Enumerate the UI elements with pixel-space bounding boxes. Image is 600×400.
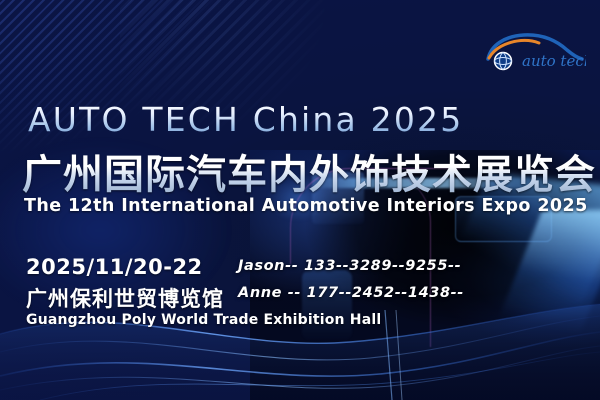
auto-tech-logo[interactable]: auto tech xyxy=(482,28,586,74)
event-poster: auto tech AUTO TECH China 2025 广州国际汽车内外饰… xyxy=(0,0,600,400)
venue-chinese: 广州保利世贸博览馆 xyxy=(26,283,224,313)
globe-icon xyxy=(495,53,512,70)
title-english: AUTO TECH China 2025 xyxy=(28,100,463,139)
contact-line-jason: Jason-- 133--3289--9255-- xyxy=(238,258,461,274)
subtitle-english: The 12th International Automotive Interi… xyxy=(24,196,588,216)
logo-text: auto tech xyxy=(522,52,586,70)
contact-line-anne: Anne -- 177--2452--1438-- xyxy=(238,285,464,301)
event-date: 2025/11/20-22 xyxy=(26,255,203,279)
title-chinese: 广州国际汽车内外饰技术展览会 xyxy=(22,142,596,200)
venue-english: Guangzhou Poly World Trade Exhibition Ha… xyxy=(26,312,381,328)
